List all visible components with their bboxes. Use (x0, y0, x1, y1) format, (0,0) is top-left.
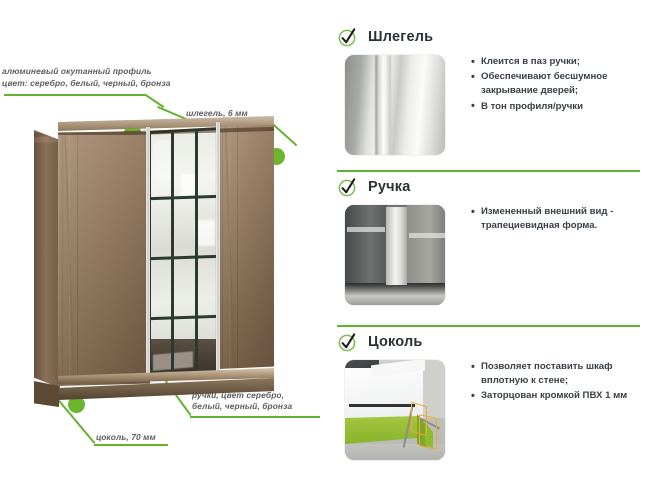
trapezoid-handle (386, 207, 407, 289)
check-circle-icon (337, 26, 359, 48)
callout-profile-line2: цвет: серебро, белый, черный, бронза (2, 78, 170, 90)
panel-strip-b (409, 233, 445, 238)
wardrobe-side-panel (34, 130, 60, 388)
feature-card-handle-bullets: Измененный внешний вид - трапециевидная … (445, 205, 652, 234)
check-circle-icon (337, 331, 359, 353)
mirror-grid-vertical-1 (171, 130, 174, 373)
feature-card-handle-title: Ручка (368, 179, 410, 195)
callout-shlegel-leader (271, 122, 297, 146)
door-panel-light (407, 205, 445, 287)
callout-profile-line1: алюминевый окутанный профиль (2, 66, 152, 78)
list-item: Клеится в паз ручки; (471, 55, 648, 69)
list-item: Обеспечивают бесшумное закрывание дверей… (471, 70, 648, 98)
callout-plinth-underline (94, 444, 168, 446)
list-item: Измененный внешний вид - трапециевидная … (471, 205, 648, 233)
wardrobe-illustration (34, 116, 274, 406)
wardrobe-mirror-door (151, 130, 217, 373)
plinth-photo (345, 360, 445, 460)
divider-2 (337, 325, 640, 327)
callout-profile-leader (145, 94, 164, 108)
mirror-grid-horizontal-2 (151, 255, 217, 260)
feature-card-handle-body: Измененный внешний вид - трапециевидная … (325, 205, 652, 305)
list-item: Заторцован кромкой ПВХ 1 мм (471, 389, 648, 403)
panel-strip-a (347, 227, 385, 232)
list-item: Позволяет поставить шкаф вплотную к стен… (471, 360, 648, 388)
feature-card-plinth-bullets: Позволяет поставить шкаф вплотную к стен… (445, 360, 652, 405)
feature-card-shlegel-body: Клеится в паз ручки; Обеспечивают бесшум… (325, 55, 652, 155)
feature-card-shlegel-title: Шлегель (368, 29, 433, 45)
feature-card-plinth-title: Цоколь (368, 334, 423, 350)
wardrobe-handle-right (216, 122, 220, 372)
handle-photo (345, 205, 445, 305)
mirror-reflection-b (195, 220, 215, 246)
door-panel-dark (345, 205, 387, 287)
features-panel: Шлегель Клеится в паз ручки; Обеспечиваю… (325, 0, 652, 500)
feature-card-plinth: Цоколь Позволяет поставить шкаф вплотную… (325, 331, 652, 460)
cabinet-gap-line (349, 404, 415, 407)
mirror-grid-horizontal-1 (151, 195, 217, 200)
callout-profile-underline (4, 94, 146, 96)
wardrobe-left-sliding-door (58, 132, 150, 386)
feature-card-shlegel-header: Шлегель (325, 26, 652, 48)
floor-surface (345, 285, 445, 305)
mirror-grid-vertical-2 (195, 130, 198, 373)
wardrobe-handle-left (146, 127, 150, 377)
list-item: В тон профиля/ручки (471, 100, 648, 114)
feature-card-shlegel-bullets: Клеится в паз ручки; Обеспечивают бесшум… (445, 55, 652, 115)
feature-card-plinth-body: Позволяет поставить шкаф вплотную к стен… (325, 360, 652, 460)
feature-card-handle: Ручка Измененный внешний вид - трапециев… (325, 176, 652, 305)
brush-seal-strip (378, 55, 391, 155)
feature-card-plinth-header: Цоколь (325, 331, 652, 353)
feature-card-shlegel: Шлегель Клеится в паз ручки; Обеспечиваю… (325, 26, 652, 155)
callout-handles-underline (190, 416, 320, 418)
annotation-orange-box-2 (419, 414, 437, 450)
wardrobe-right-sliding-door (218, 121, 274, 369)
callout-plinth-line1: цоколь, 70 мм (96, 432, 156, 444)
divider-1 (337, 170, 640, 172)
check-circle-icon (337, 176, 359, 198)
wardrobe-diagram-panel: алюминевый окутанный профиль цвет: сереб… (0, 0, 325, 500)
shlegel-photo (345, 55, 445, 155)
feature-card-handle-header: Ручка (325, 176, 652, 198)
mirror-grid-horizontal-3 (151, 315, 217, 320)
